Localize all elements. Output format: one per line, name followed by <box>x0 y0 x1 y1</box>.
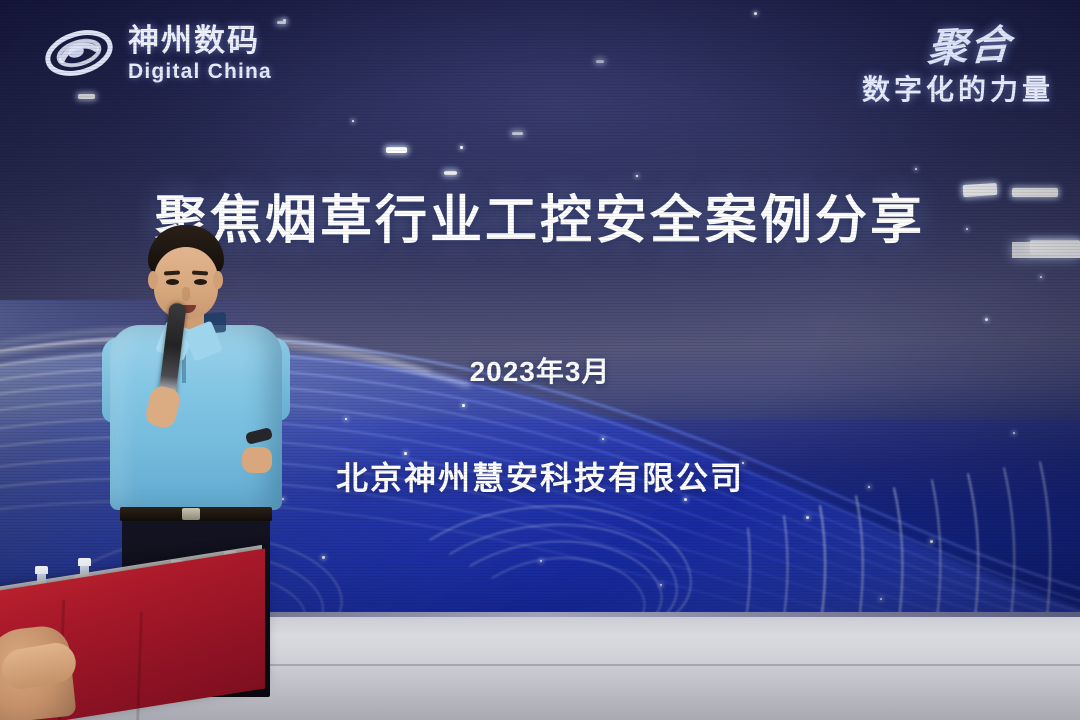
presenter-ear-right <box>213 271 223 289</box>
presenter-nose <box>182 287 190 301</box>
stage-photo-scene: 神州数码 Digital China 聚合 数字化的力量 聚焦烟草行业工控安全案… <box>0 0 1080 720</box>
digital-china-brand-lockup: 神州数码 Digital China <box>42 22 272 84</box>
presenter-eye-left <box>166 279 179 285</box>
presenter-eye-right <box>194 279 207 285</box>
event-brand-lockup: 聚合 数字化的力量 <box>862 14 1054 108</box>
presenter-belt-buckle <box>182 508 200 520</box>
bottle-cap <box>78 558 91 566</box>
brand-name-cn: 神州数码 <box>128 25 272 56</box>
digital-china-swirl-icon <box>42 22 116 84</box>
event-calligraphy: 聚合 <box>926 12 1013 74</box>
bottle-cap <box>35 566 48 574</box>
presenter-ear-left <box>148 271 158 289</box>
brand-name-en: Digital China <box>128 61 272 82</box>
presenter-hand-right <box>242 447 272 473</box>
event-slogan: 数字化的力量 <box>862 68 1054 108</box>
